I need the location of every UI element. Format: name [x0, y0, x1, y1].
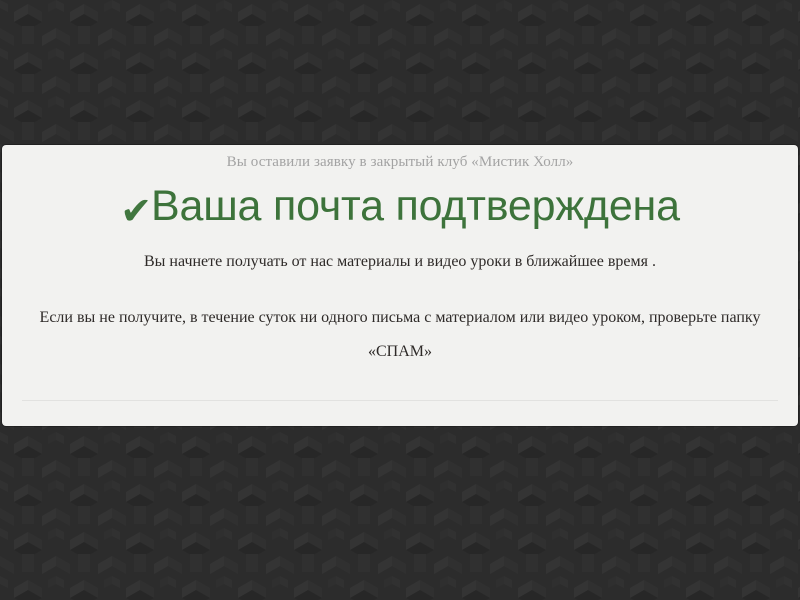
- confirmation-card: Вы оставили заявку в закрытый клуб «Мист…: [2, 145, 798, 426]
- card-divider: [22, 400, 778, 401]
- card-subtitle: Вы оставили заявку в закрытый клуб «Мист…: [2, 145, 798, 173]
- headline-row: ✔Ваша почта подтверждена: [2, 173, 798, 231]
- check-mark-icon: ✔: [120, 192, 152, 230]
- card-body: Вы начнете получать от нас материалы и в…: [2, 231, 798, 369]
- page-title: Ваша почта подтверждена: [151, 181, 680, 231]
- body-paragraph-2: Если вы не получите, в течение суток ни …: [2, 301, 798, 369]
- body-paragraph-1: Вы начнете получать от нас материалы и в…: [2, 245, 798, 279]
